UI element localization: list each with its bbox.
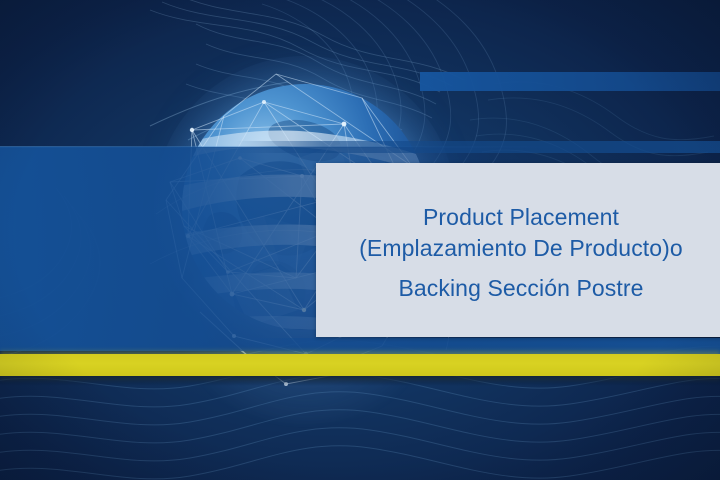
title-line-3: Backing Sección Postre: [316, 274, 720, 303]
title-card-text: Product Placement (Emplazamiento De Prod…: [316, 203, 720, 303]
title-line-2: (Emplazamiento De Producto)o: [316, 234, 720, 263]
title-line-1: Product Placement: [316, 203, 720, 232]
presentation-slide: Product Placement (Emplazamiento De Prod…: [0, 0, 720, 480]
title-card: Product Placement (Emplazamiento De Prod…: [316, 163, 720, 337]
